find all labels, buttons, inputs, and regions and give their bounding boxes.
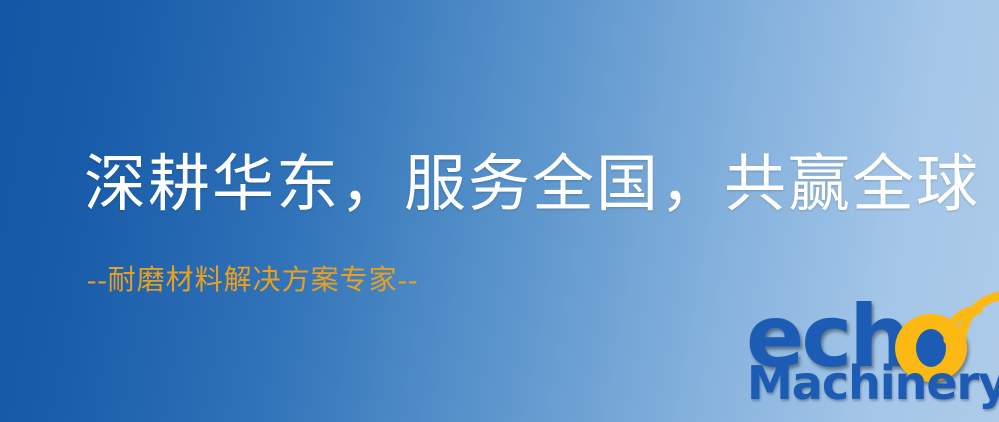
signal-waves-icon bbox=[940, 288, 999, 358]
logo-tagline: Machinery® bbox=[747, 358, 999, 408]
echo-machinery-logo[interactable]: ech Machinery® bbox=[744, 292, 999, 422]
banner-subtitle: --耐磨材料解决方案专家-- bbox=[87, 264, 418, 298]
logo-tagline-text: Machinery bbox=[747, 356, 999, 410]
banner-headline: 深耕华东，服务全国，共赢全球 bbox=[84, 145, 944, 225]
promotional-banner: 深耕华东，服务全国，共赢全球 --耐磨材料解决方案专家-- ech Machin… bbox=[0, 0, 999, 422]
